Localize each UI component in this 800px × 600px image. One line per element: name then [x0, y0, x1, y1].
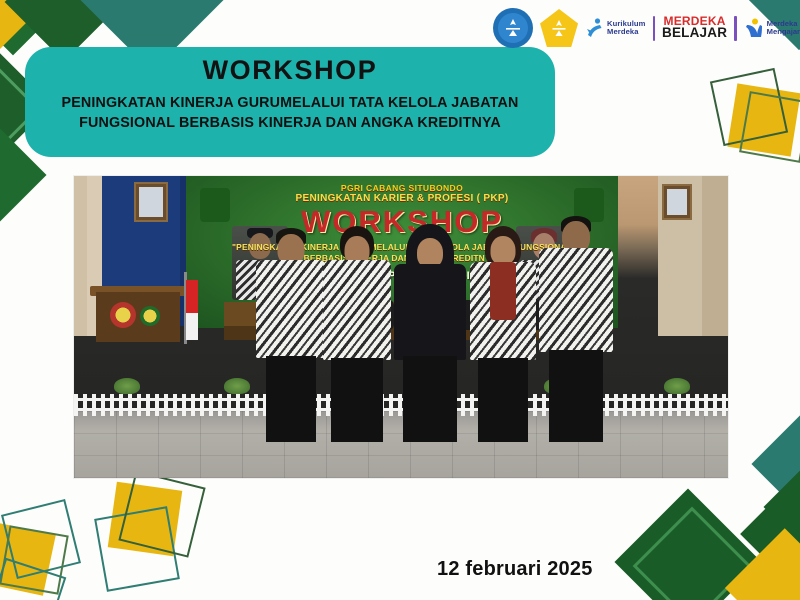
photo-plant-2 [224, 378, 250, 394]
poster-canvas: Kurikulum Merdeka MERDEKA BELAJAR Merdek… [0, 0, 800, 600]
photo-indonesian-flag [186, 280, 198, 340]
pentagon-tut-wuri-icon [540, 9, 578, 47]
merdeka-mengajar-icon [744, 17, 764, 39]
logo-strip: Kurikulum Merdeka MERDEKA BELAJAR Merdek… [493, 4, 800, 52]
decor-square-outline-green-tr-2 [739, 91, 800, 163]
photo-plant-4 [664, 378, 690, 394]
photo-wall-frame-left [134, 182, 168, 222]
photo-person-2 [320, 228, 394, 442]
photo-podium-emblem-1 [110, 302, 136, 328]
logo-divider-2 [734, 16, 737, 41]
page-subtitle: PENINGKATAN KINERJA GURUMELALUI TATA KEL… [25, 93, 555, 134]
photo-wall-panel-right-edge [702, 176, 728, 336]
logo-divider-1 [653, 16, 656, 41]
photo-person-3 [390, 228, 470, 442]
merdeka-belajar-logo: MERDEKA BELAJAR [662, 16, 727, 40]
kurikulum-merdeka-label: Kurikulum Merdeka [607, 20, 645, 37]
title-card: WORKSHOP PENINGKATAN KINERJA GURUMELALUI… [25, 47, 555, 157]
photo-podium [96, 292, 180, 342]
photo-wall-frame-right [662, 184, 692, 220]
subtitle-line-2: FUNGSIONAL BERBASIS KINERJA DAN ANGKA KR… [25, 113, 555, 134]
photo-podium-emblem-2 [140, 306, 160, 326]
workshop-group-photo: PGRI CABANG SITUBONDO PENINGKATAN KARIER… [74, 176, 728, 478]
km-line2: Merdeka [607, 27, 639, 36]
merdeka-mengajar-label: Merdeka Mengajar [767, 20, 800, 37]
merdeka-mengajar-logo: Merdeka Mengajar [744, 17, 800, 39]
subtitle-line-1: PENINGKATAN KINERJA GURUMELALUI TATA KEL… [62, 95, 519, 111]
photo-person-4 [466, 228, 540, 442]
kurikulum-merdeka-logo: Kurikulum Merdeka [585, 17, 645, 39]
banner-line-1: PGRI CABANG SITUBONDO [186, 183, 618, 193]
photo-wall-panel-left-edge [74, 176, 87, 336]
event-date: 12 februari 2025 [437, 558, 593, 581]
banner-line-2: PENINGKATAN KARIER & PROFESI ( PKP) [186, 193, 618, 204]
photo-person-5 [536, 222, 616, 442]
kurikulum-merdeka-icon [585, 17, 604, 39]
mm-line2: Mengajar [767, 27, 800, 36]
page-title: WORKSHOP [203, 56, 378, 86]
photo-person-1 [254, 228, 328, 442]
photo-plant-1 [114, 378, 140, 394]
merdeka-belajar-line2: BELAJAR [662, 27, 727, 40]
tut-wuri-handayani-icon [493, 8, 533, 48]
